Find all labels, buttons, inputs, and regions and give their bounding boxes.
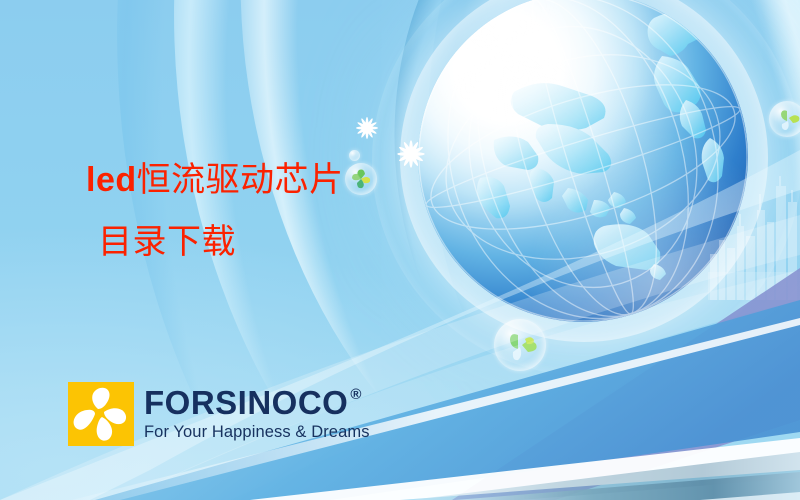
logo-wordmark: FORSINOCO ®	[144, 386, 370, 419]
pinwheel-petals-icon	[68, 382, 134, 446]
company-logo[interactable]: FORSINOCO ® For Your Happiness & Dreams	[68, 382, 370, 446]
logo-tagline: For Your Happiness & Dreams	[144, 423, 370, 442]
headline-line-1: led恒流驱动芯片	[86, 163, 344, 197]
promotional-banner: led恒流驱动芯片 目录下载 FORSINOCO ® For Your Happ…	[0, 0, 800, 500]
headline-line-2: 目录下载	[86, 225, 344, 259]
logo-wordmark-text: FORSINOCO	[144, 386, 348, 419]
four-petal-pinwheel-mark	[68, 382, 134, 446]
headline-cjk-1: 恒流驱动芯片	[137, 160, 344, 200]
logo-text-block: FORSINOCO ® For Your Happiness & Dreams	[144, 386, 370, 442]
registered-trademark-symbol: ®	[350, 387, 362, 402]
headline-text: led恒流驱动芯片 目录下载	[86, 163, 344, 259]
headline-latin-led: led	[86, 161, 137, 199]
